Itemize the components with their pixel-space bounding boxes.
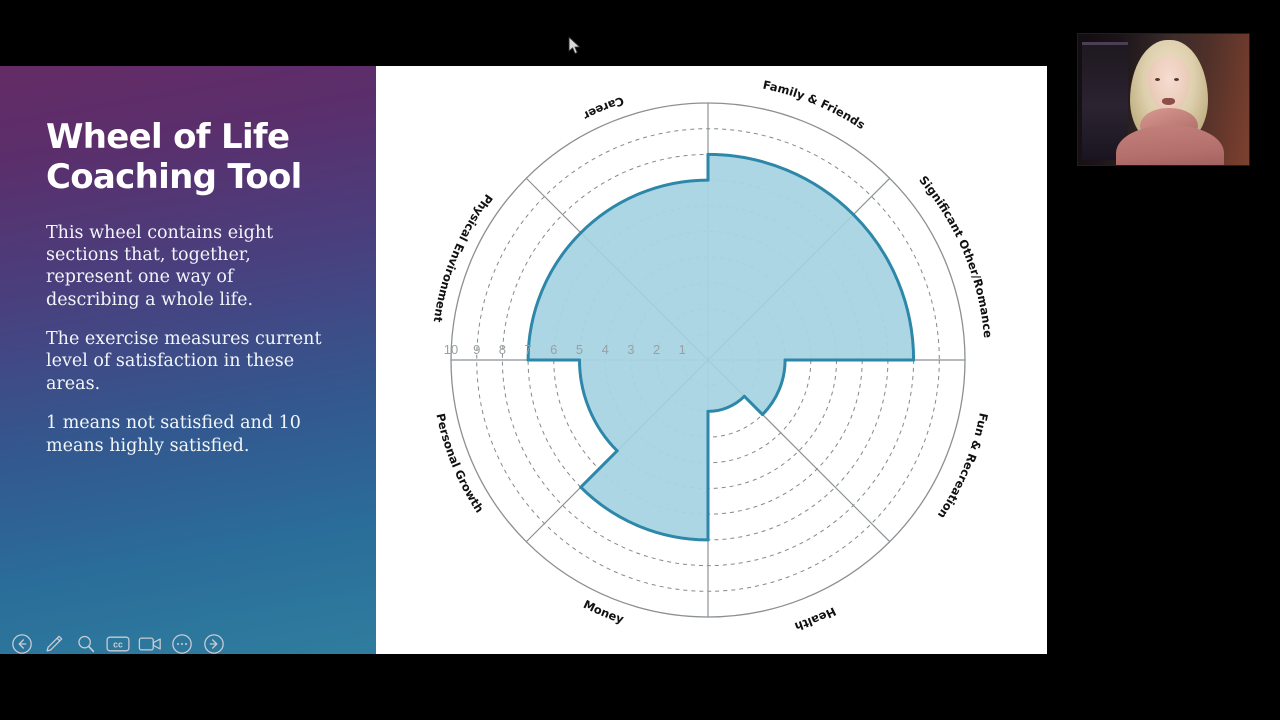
svg-text:cc: cc <box>113 640 123 650</box>
captions-button[interactable]: cc <box>106 632 130 656</box>
scale-tick-label: 4 <box>602 342 609 357</box>
wheel-category-label: Significant Other/Romance <box>916 173 995 339</box>
scale-tick-label: 10 <box>444 342 458 357</box>
wheel-of-life-chart: 10987654321Family & FriendsSignificant O… <box>376 66 1047 654</box>
video-camera-icon <box>138 634 162 654</box>
slide-paragraph-1: This wheel contains eight sections that,… <box>46 222 332 312</box>
presenter-eye-left <box>1155 78 1160 81</box>
app-window: Wheel of Life Coaching Tool This wheel c… <box>0 0 1280 720</box>
more-options-button[interactable] <box>170 632 194 656</box>
page-title: Wheel of Life Coaching Tool <box>46 118 332 198</box>
scale-tick-label: 2 <box>653 342 660 357</box>
presenter-mouth <box>1162 98 1175 105</box>
wheel-category-label: Health <box>793 604 838 633</box>
wheel-category-label: Fun & Recreation <box>935 412 991 521</box>
previous-slide-button[interactable] <box>10 632 34 656</box>
scale-tick-label: 7 <box>524 342 531 357</box>
presenter-eye-right <box>1174 78 1179 81</box>
zoom-button[interactable] <box>74 632 98 656</box>
presentation-slide: Wheel of Life Coaching Tool This wheel c… <box>0 66 1047 654</box>
arrow-left-circle-icon <box>11 633 33 655</box>
playback-toolbar: cc <box>6 630 230 658</box>
presenter-torso <box>1116 126 1224 166</box>
next-slide-button[interactable] <box>202 632 226 656</box>
scale-tick-label: 5 <box>576 342 583 357</box>
wheel-category-label: Physical Environment <box>431 191 496 323</box>
scale-tick-label: 3 <box>627 342 634 357</box>
video-button[interactable] <box>138 632 162 656</box>
slide-title-line-1: Wheel of Life <box>46 118 332 158</box>
wheel-category-label: Family & Friends <box>762 78 868 133</box>
ellipsis-circle-icon <box>171 633 193 655</box>
slide-paragraph-3: 1 means not satisfied and 10 means highl… <box>46 412 332 457</box>
scale-tick-label: 9 <box>473 342 480 357</box>
wheel-chart-svg: 10987654321Family & FriendsSignificant O… <box>376 66 1047 654</box>
pencil-icon <box>43 633 65 655</box>
closed-caption-icon: cc <box>106 634 130 654</box>
scale-tick-label: 6 <box>550 342 557 357</box>
slide-paragraph-2: The exercise measures current level of s… <box>46 328 332 395</box>
slide-text-panel: Wheel of Life Coaching Tool This wheel c… <box>0 66 376 654</box>
magnifier-icon <box>75 633 97 655</box>
presenter-webcam-tile[interactable] <box>1077 33 1250 166</box>
scale-tick-label: 1 <box>679 342 686 357</box>
slide-title-line-2: Coaching Tool <box>46 158 332 198</box>
mouse-cursor <box>568 36 582 56</box>
arrow-right-circle-icon <box>203 633 225 655</box>
scale-tick-label: 8 <box>499 342 506 357</box>
annotate-button[interactable] <box>42 632 66 656</box>
